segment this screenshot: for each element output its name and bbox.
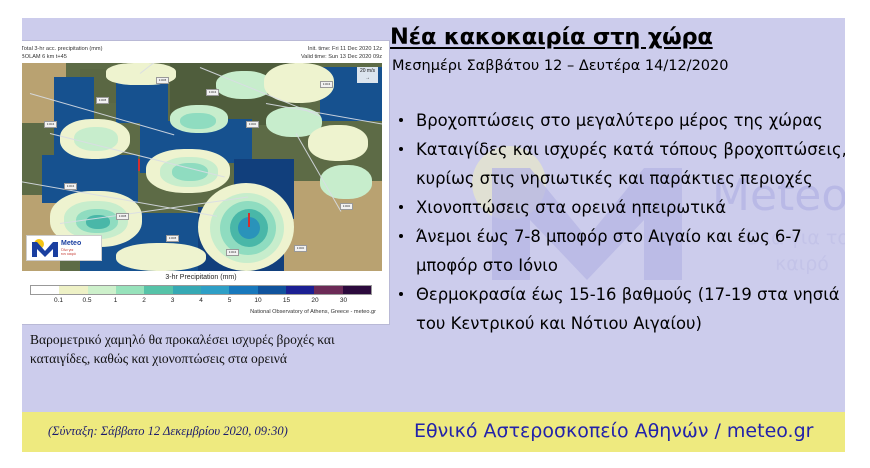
page-subtitle: Μεσημέρι Σαββάτου 12 – Δευτέρα 14/12/202…: [392, 58, 728, 74]
footer-editorial-date: (Σύνταξη: Σάββατο 12 Δεκεμβρίου 2020, 09…: [48, 424, 288, 439]
isobar-label: 1000: [340, 203, 353, 210]
slide-footer: (Σύνταξη: Σάββατο 12 Δεκεμβρίου 2020, 09…: [22, 412, 845, 452]
isobar-label: 1008: [166, 235, 179, 242]
map-credit: National Observatory of Athens, Greece -…: [250, 309, 376, 315]
colorbar-swatch: [173, 286, 201, 294]
map-header-left: Total 3-hr acc. precipitation (mm) BOLAM…: [22, 45, 102, 61]
colorbar-tick-label: 4: [199, 297, 203, 304]
forecast-bullet-item: Βροχοπτώσεις στο μεγαλύτερο μέρος της χώ…: [392, 106, 845, 135]
logo-brand-text: Meteo: [61, 240, 81, 248]
colorbar-swatch: [258, 286, 286, 294]
map-title-line1: Total 3-hr acc. precipitation (mm): [22, 45, 102, 53]
colorbar-title: 3-hr Precipitation (mm): [22, 274, 382, 281]
map-header: Total 3-hr acc. precipitation (mm) BOLAM…: [22, 41, 389, 63]
map-header-right: Init. time: Fri 11 Dec 2020 12z Valid ti…: [301, 45, 382, 61]
forecast-bullet-item: Άνεμοι έως 7-8 μποφόρ στο Αιγαίο και έως…: [392, 222, 845, 280]
colorbar-swatch: [314, 286, 342, 294]
map-valid-time: Valid time: Sun 13 Dec 2020 09z: [301, 53, 382, 61]
precipitation-map-image: 1004 1008 1008 1004 1000 1004 1004 1008 …: [22, 63, 382, 271]
colorbar-ticks: 0.10.51234510152030: [30, 297, 372, 307]
colorbar-tick-label: 1: [114, 297, 118, 304]
colorbar-swatch: [201, 286, 229, 294]
logo-tagline-line2: τον καιρό: [61, 252, 76, 256]
forecast-bullet-item: Χιονοπτώσεις στα ορεινά ηπειρωτικά: [392, 193, 845, 222]
map-init-time: Init. time: Fri 11 Dec 2020 12z: [301, 45, 382, 53]
wind-scale-legend: 20 m/s →: [357, 67, 378, 83]
footer-organisation: Εθνικό Αστεροσκοπείο Αθηνών / meteo.gr: [414, 420, 813, 442]
colorbar-tick-label: 20: [311, 297, 318, 304]
map-panel: Total 3-hr acc. precipitation (mm) BOLAM…: [22, 40, 390, 325]
isobar-label: 1004: [44, 121, 57, 128]
wind-arrow-icon: →: [365, 75, 370, 81]
isobar-label: 1000: [246, 121, 259, 128]
colorbar-swatch: [88, 286, 116, 294]
logo-m-icon: [32, 242, 58, 257]
colorbar-tick-label: 30: [340, 297, 347, 304]
isobar-label: 1004: [206, 89, 219, 96]
colorbar-swatch: [116, 286, 144, 294]
isobar-label: 1004: [64, 183, 77, 190]
isobar-label: 1004: [226, 249, 239, 256]
colorbar-tick-label: 0.1: [54, 297, 63, 304]
isobar-label: 1008: [116, 213, 129, 220]
colorbar-legend: 3-hr Precipitation (mm) 0.10.51234510152…: [22, 273, 382, 323]
logo-tagline: Όλα για τον καιρό: [61, 248, 76, 256]
isobar-label: 1000: [294, 245, 307, 252]
isobar-label: 1008: [96, 97, 109, 104]
colorbar-tick-label: 5: [228, 297, 232, 304]
colorbar-swatch: [59, 286, 87, 294]
map-caption: Βαρομετρικό χαμηλό θα προκαλέσει ισχυρές…: [30, 330, 382, 368]
forecast-bullet-item: Θερμοκρασία έως 15-16 βαθμούς (17-19 στα…: [392, 280, 845, 338]
colorbar-tick-label: 3: [171, 297, 175, 304]
isobar-label: 1004: [320, 81, 333, 88]
forecast-bullet-item: Καταιγίδες και ισχυρές κατά τόπους βροχο…: [392, 135, 845, 193]
wind-scale-label: 20 m/s: [360, 68, 375, 74]
colorbar-tick-label: 15: [283, 297, 290, 304]
page-title: Νέα κακοκαιρία στη χώρα: [390, 24, 713, 50]
slide-canvas: Meteo Όλα για τον καιρό Total 3-hr acc. …: [22, 18, 845, 452]
colorbar-tick-label: 2: [142, 297, 146, 304]
map-title-line2: BOLAM 6 km t+45: [22, 53, 102, 61]
colorbar-swatch: [286, 286, 314, 294]
colorbar-swatch: [144, 286, 172, 294]
colorbar-swatch: [343, 286, 371, 294]
colorbar-swatch: [31, 286, 59, 294]
forecast-bullet-list: Βροχοπτώσεις στο μεγαλύτερο μέρος της χώ…: [392, 106, 845, 338]
isobar-label: 1008: [156, 77, 169, 84]
colorbar-tick-label: 0.5: [82, 297, 91, 304]
colorbar-swatches: [30, 285, 372, 295]
colorbar-swatch: [229, 286, 257, 294]
colorbar-tick-label: 10: [254, 297, 261, 304]
meteo-logo: Meteo Όλα για τον καιρό: [26, 235, 102, 261]
